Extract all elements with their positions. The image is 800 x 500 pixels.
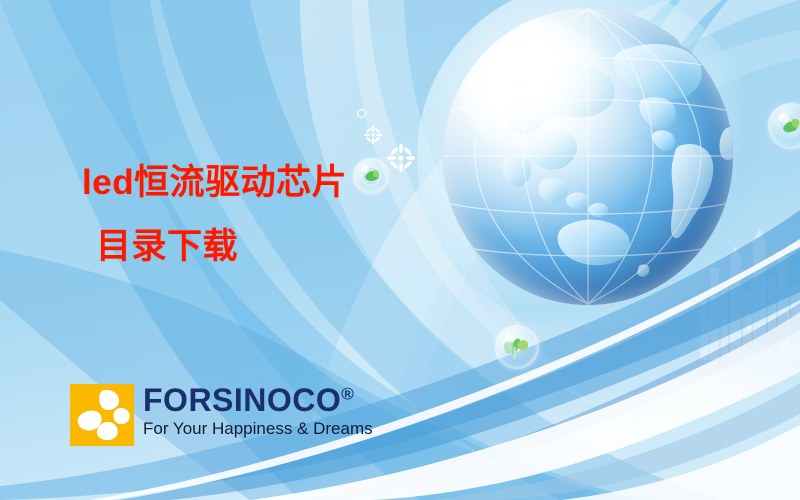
headline-han: 恒流驱动芯片 — [134, 162, 347, 203]
company-logo: FORSINOCO® For Your Happiness & Dreams — [70, 384, 373, 446]
headline-latin: led — [82, 163, 134, 202]
headline-line-1: led恒流驱动芯片 — [82, 160, 422, 206]
headline: led恒流驱动芯片 目录下载 — [82, 160, 422, 269]
sparkle-flower-small — [364, 126, 382, 144]
bubble-edge-right — [768, 103, 800, 149]
headline-line-2: 目录下载 — [82, 224, 422, 270]
forsinoco-pinwheel-mark — [70, 384, 134, 446]
bubble-green-sprout — [495, 325, 539, 369]
promo-banner: led恒流驱动芯片 目录下载 FORSINOCO® For Your Happi… — [0, 0, 800, 500]
globe-rim-light — [443, 8, 733, 305]
company-name: FORSINOCO® — [143, 384, 373, 416]
sparkle-ring — [356, 108, 367, 119]
company-name-text: FORSINOCO — [143, 382, 341, 418]
earth-globe — [443, 8, 733, 305]
registered-trademark-icon: ® — [341, 384, 354, 403]
company-tagline: For Your Happiness & Dreams — [143, 418, 373, 440]
logo-wordmark: FORSINOCO® For Your Happiness & Dreams — [143, 384, 373, 440]
